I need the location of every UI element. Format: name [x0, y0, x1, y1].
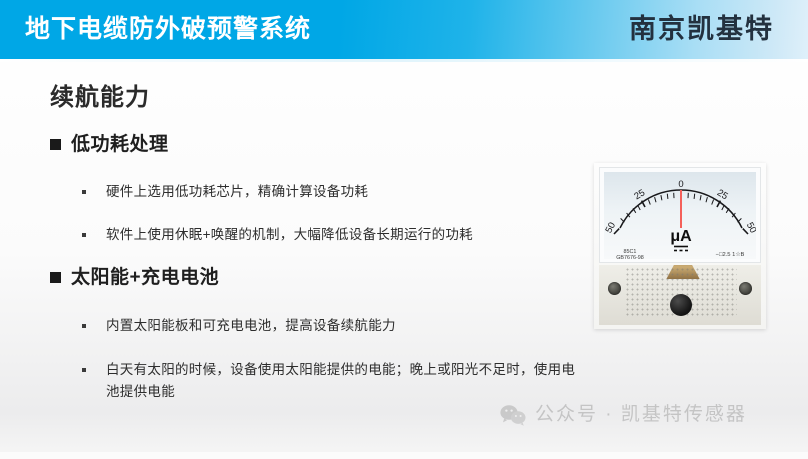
small-square-bullet-icon	[82, 233, 86, 237]
slide: 地下电缆防外破预警系统 南京凯基特 续航能力 低功耗处理 硬件上选用低功耗芯片，…	[0, 0, 808, 459]
meter-dial-face: 50 25 0 25 50 μA	[604, 172, 756, 259]
section-2-heading: 太阳能+充电电池	[50, 265, 219, 291]
section-2-item-1: 内置太阳能板和可充电电池，提高设备续航能力	[82, 315, 396, 337]
bottom-edge-strip	[0, 452, 808, 459]
meter-bezel: 50 25 0 25 50 μA	[599, 167, 761, 263]
section-1-heading: 低功耗处理	[50, 132, 169, 158]
header-brand: 南京凯基特	[629, 11, 774, 47]
small-square-bullet-icon	[82, 324, 86, 328]
svg-text:0: 0	[678, 179, 683, 190]
section-2-heading-label: 太阳能+充电电池	[71, 265, 219, 291]
wechat-watermark: 公众号 · 凯基特传感器	[500, 403, 747, 427]
meter-screw-left-icon	[608, 282, 621, 295]
svg-text:μA: μA	[670, 228, 692, 245]
small-square-bullet-icon	[82, 368, 86, 372]
watermark-text: 公众号 · 凯基特传感器	[535, 403, 747, 427]
section-1-item-1-label: 硬件上选用低功耗芯片，精确计算设备功耗	[106, 181, 368, 203]
section-1-heading-label: 低功耗处理	[71, 132, 169, 158]
svg-text:−□2.5 1☆B: −□2.5 1☆B	[716, 251, 745, 258]
section-1-item-2-label: 软件上使用休眠+唤醒的机制，大幅降低设备长期运行的功耗	[106, 224, 473, 246]
section-1-item-2: 软件上使用休眠+唤醒的机制，大幅降低设备长期运行的功耗	[82, 224, 473, 246]
svg-text:GB7676-98: GB7676-98	[616, 255, 644, 259]
section-2-item-2-label: 白天有太阳的时候，设备使用太阳能提供的电能；晚上或阳光不足时，使用电池提供电能	[106, 359, 576, 403]
small-square-bullet-icon	[82, 190, 86, 194]
meter-zero-adjust-knob	[670, 294, 692, 316]
svg-text:50: 50	[744, 221, 756, 236]
meter-screw-right-icon	[739, 282, 752, 295]
header-title: 地下电缆防外破预警系统	[25, 12, 311, 46]
section-2-item-1-label: 内置太阳能板和可充电电池，提高设备续航能力	[106, 315, 396, 337]
square-bullet-icon	[50, 272, 61, 283]
page-title: 续航能力	[50, 82, 150, 114]
section-1-item-1: 硬件上选用低功耗芯片，精确计算设备功耗	[82, 181, 368, 203]
analog-panel-meter-image: 50 25 0 25 50 μA	[594, 163, 766, 329]
meter-housing-lower	[599, 265, 761, 325]
section-2-item-2: 白天有太阳的时候，设备使用太阳能提供的电能；晚上或阳光不足时，使用电池提供电能	[82, 359, 576, 403]
square-bullet-icon	[50, 139, 61, 150]
wechat-icon	[500, 404, 526, 426]
slide-header-banner: 地下电缆防外破预警系统 南京凯基特	[0, 0, 808, 59]
meter-dial-svg: 50 25 0 25 50 μA	[604, 172, 756, 259]
